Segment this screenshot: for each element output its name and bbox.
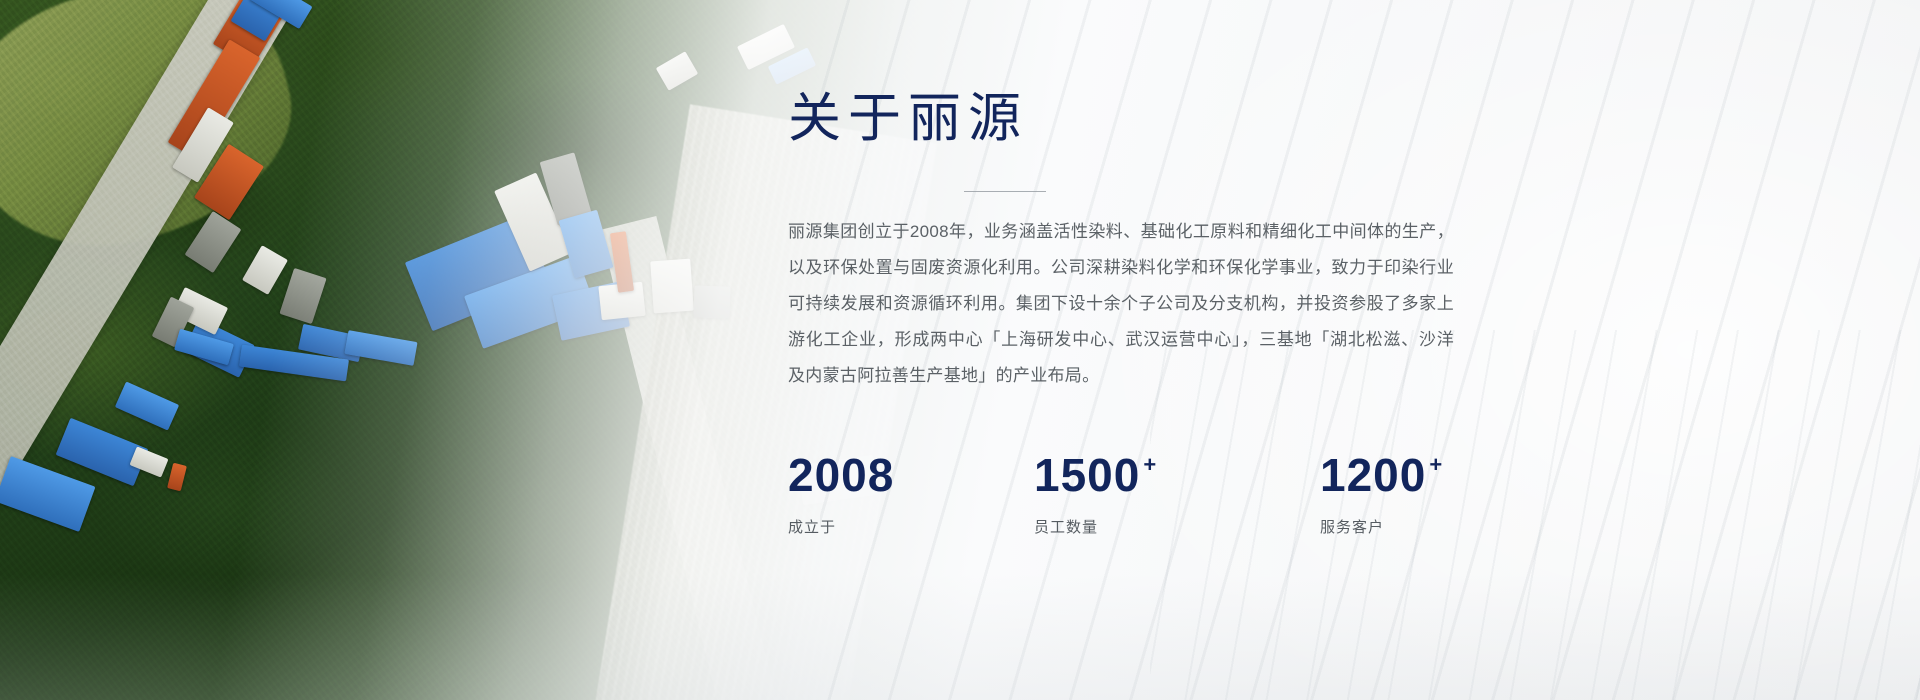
stat-superscript: + [1143,454,1157,476]
stat-employees: 1500 + 员工数量 [1034,452,1320,537]
about-description-text: 丽源集团创立于2008年，业务涵盖活性染料、基础化工原料和精细化工中间体的生产，… [788,214,1454,394]
stat-number: 1500 [1034,452,1140,498]
about-hero-section: 关于丽源 丽源集团创立于2008年，业务涵盖活性染料、基础化工原料和精细化工中间… [0,0,1920,700]
stats-row: 2008 成立于 1500 + 员工数量 1200 + 服务客户 [788,452,1788,537]
stat-value-founded: 2008 [788,452,1034,498]
about-description: 丽源集团创立于2008年，业务涵盖活性染料、基础化工原料和精细化工中间体的生产，… [788,214,1454,394]
stat-founded: 2008 成立于 [788,452,1034,537]
stat-label-founded: 成立于 [788,516,1034,537]
stat-superscript: + [1429,454,1443,476]
about-content: 关于丽源 丽源集团创立于2008年，业务涵盖活性染料、基础化工原料和精细化工中间… [788,0,1788,700]
title-divider [964,191,1046,192]
stat-customers: 1200 + 服务客户 [1320,452,1566,537]
stat-value-employees: 1500 + [1034,452,1320,498]
page-title: 关于丽源 [788,88,1788,151]
stat-label-employees: 员工数量 [1034,516,1320,537]
stat-number: 1200 [1320,452,1426,498]
stat-label-customers: 服务客户 [1320,516,1566,537]
stat-number: 2008 [788,452,894,498]
stat-value-customers: 1200 + [1320,452,1566,498]
